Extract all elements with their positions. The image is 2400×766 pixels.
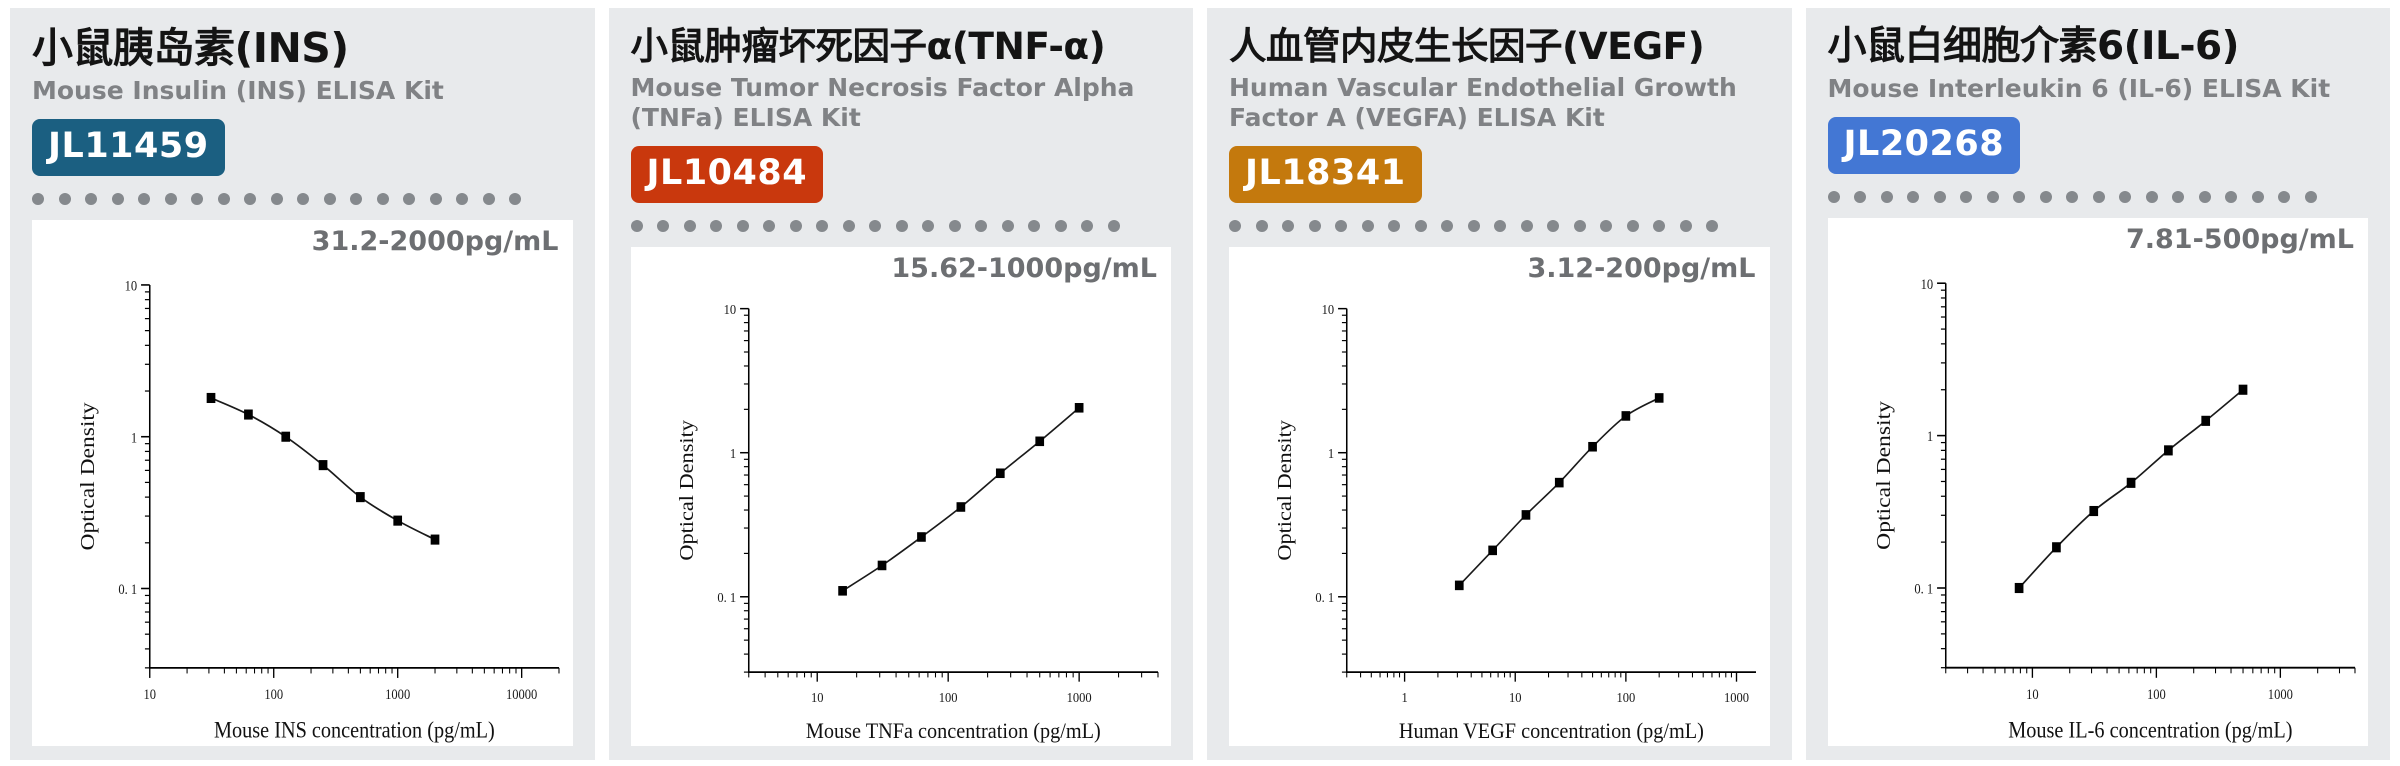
divider-dot xyxy=(1441,220,1453,232)
divider-dot xyxy=(1881,191,1893,203)
dotted-divider xyxy=(1229,211,1770,241)
divider-dot xyxy=(1256,220,1268,232)
svg-text:1: 1 xyxy=(1328,445,1334,461)
svg-text:0. 1: 0. 1 xyxy=(1914,580,1933,596)
dotted-divider xyxy=(1828,182,2369,212)
divider-dot xyxy=(1653,220,1665,232)
divider-dot xyxy=(112,193,124,205)
product-panel-tnfa[interactable]: 小鼠肿瘤坏死因子α(TNF-α) Mouse Tumor Necrosis Fa… xyxy=(609,8,1194,760)
divider-dot xyxy=(1680,220,1692,232)
divider-dot xyxy=(2172,191,2184,203)
svg-text:Mouse INS concentration (pg/mL: Mouse INS concentration (pg/mL) xyxy=(214,716,495,743)
divider-dot xyxy=(737,220,749,232)
standard-curve-card: 31.2-2000pg/mL 0. 111010100100010000Mous… xyxy=(32,220,573,746)
divider-dot xyxy=(2013,191,2025,203)
divider-dot xyxy=(2066,191,2078,203)
divider-dot xyxy=(32,193,44,205)
divider-dot xyxy=(1934,191,1946,203)
product-title-cn: 小鼠肿瘤坏死因子α(TNF-α) xyxy=(631,26,1172,67)
svg-text:Mouse IL-6 concentration (pg/m: Mouse IL-6 concentration (pg/mL) xyxy=(2008,716,2292,743)
standard-curve-chart: 0. 1110101001000Mouse TNFa concentration… xyxy=(631,247,1172,747)
divider-dot xyxy=(1282,220,1294,232)
divider-dot xyxy=(896,220,908,232)
divider-dot xyxy=(2040,191,2052,203)
divider-dot xyxy=(2146,191,2158,203)
standard-curve-card: 7.81-500pg/mL 0. 1110101001000Mouse IL-6… xyxy=(1828,218,2369,746)
standard-curve-card: 3.12-200pg/mL 0. 11101101001000Human VEG… xyxy=(1229,247,1770,747)
product-title-en: Human Vascular Endothelial Growth Factor… xyxy=(1229,73,1770,134)
divider-dot xyxy=(218,193,230,205)
divider-dot xyxy=(816,220,828,232)
divider-dot xyxy=(509,193,521,205)
dotted-divider xyxy=(32,184,573,214)
divider-dot xyxy=(1002,220,1014,232)
svg-text:1: 1 xyxy=(1926,428,1932,444)
svg-text:10: 10 xyxy=(2026,686,2039,702)
divider-dot xyxy=(2305,191,2317,203)
divider-dot xyxy=(403,193,415,205)
divider-dot xyxy=(1055,220,1067,232)
divider-dot xyxy=(430,193,442,205)
divider-dot xyxy=(456,193,468,205)
divider-dot xyxy=(1854,191,1866,203)
divider-dot xyxy=(297,193,309,205)
svg-text:100: 100 xyxy=(938,689,957,705)
divider-dot xyxy=(1828,191,1840,203)
svg-text:0. 1: 0. 1 xyxy=(118,581,137,597)
divider-dot xyxy=(271,193,283,205)
divider-dot xyxy=(1362,220,1374,232)
sku-badge[interactable]: JL11459 xyxy=(32,119,225,176)
divider-dot xyxy=(1335,220,1347,232)
svg-text:Optical Density: Optical Density xyxy=(1273,419,1296,560)
divider-dot xyxy=(377,193,389,205)
divider-dot xyxy=(85,193,97,205)
svg-text:Optical Density: Optical Density xyxy=(674,419,697,560)
divider-dot xyxy=(684,220,696,232)
svg-text:Optical Density: Optical Density xyxy=(1871,401,1894,550)
svg-text:10: 10 xyxy=(143,686,156,702)
divider-dot xyxy=(975,220,987,232)
divider-dot xyxy=(1388,220,1400,232)
divider-dot xyxy=(2278,191,2290,203)
svg-text:1000: 1000 xyxy=(1724,689,1749,705)
svg-text:0. 1: 0. 1 xyxy=(1315,589,1334,605)
divider-dot xyxy=(138,193,150,205)
divider-dot xyxy=(1574,220,1586,232)
divider-dot xyxy=(1600,220,1612,232)
divider-dot xyxy=(631,220,643,232)
divider-dot xyxy=(1028,220,1040,232)
divider-dot xyxy=(1547,220,1559,232)
svg-text:10: 10 xyxy=(125,277,138,293)
product-title-en: Mouse Insulin (INS) ELISA Kit xyxy=(32,76,573,107)
divider-dot xyxy=(2119,191,2131,203)
svg-text:100: 100 xyxy=(1616,689,1635,705)
svg-text:100: 100 xyxy=(264,686,283,702)
divider-dot xyxy=(1960,191,1972,203)
svg-text:1: 1 xyxy=(131,429,137,445)
product-title-cn: 小鼠白细胞介素6(IL-6) xyxy=(1828,26,2369,68)
divider-dot xyxy=(1468,220,1480,232)
divider-dot xyxy=(1987,191,1999,203)
product-panel-ins[interactable]: 小鼠胰岛素(INS) Mouse Insulin (INS) ELISA Kit… xyxy=(10,8,595,760)
dotted-divider xyxy=(631,211,1172,241)
divider-dot xyxy=(59,193,71,205)
divider-dot xyxy=(843,220,855,232)
svg-text:10: 10 xyxy=(1509,689,1522,705)
product-title-cn: 人血管内皮生长因子(VEGF) xyxy=(1229,26,1770,67)
divider-dot xyxy=(763,220,775,232)
divider-dot xyxy=(922,220,934,232)
divider-dot xyxy=(165,193,177,205)
divider-dot xyxy=(1706,220,1718,232)
divider-dot xyxy=(657,220,669,232)
divider-dot xyxy=(2199,191,2211,203)
divider-dot xyxy=(710,220,722,232)
divider-dot xyxy=(869,220,881,232)
divider-dot xyxy=(350,193,362,205)
divider-dot xyxy=(1415,220,1427,232)
svg-text:1: 1 xyxy=(729,445,735,461)
sku-badge[interactable]: JL20268 xyxy=(1828,117,2021,174)
divider-dot xyxy=(1229,220,1241,232)
divider-dot xyxy=(191,193,203,205)
standard-curve-chart: 0. 11101101001000Human VEGF concentratio… xyxy=(1229,247,1770,747)
svg-text:10000: 10000 xyxy=(506,686,538,702)
svg-text:100: 100 xyxy=(2146,686,2165,702)
svg-text:Optical Density: Optical Density xyxy=(75,402,98,550)
svg-text:1000: 1000 xyxy=(1066,689,1091,705)
divider-dot xyxy=(1521,220,1533,232)
divider-dot xyxy=(949,220,961,232)
standard-curve-chart: 0. 111010100100010000Mouse INS concentra… xyxy=(32,220,573,746)
svg-text:Mouse TNFa concentration (pg/m: Mouse TNFa concentration (pg/mL) xyxy=(805,718,1100,743)
divider-dot xyxy=(1494,220,1506,232)
divider-dot xyxy=(1907,191,1919,203)
svg-text:10: 10 xyxy=(1322,301,1335,317)
svg-text:1: 1 xyxy=(1401,689,1407,705)
product-panel-il6[interactable]: 小鼠白细胞介素6(IL-6) Mouse Interleukin 6 (IL-6… xyxy=(1806,8,2391,760)
standard-curve-chart: 0. 1110101001000Mouse IL-6 concentration… xyxy=(1828,218,2369,746)
standard-curve-card: 15.62-1000pg/mL 0. 1110101001000Mouse TN… xyxy=(631,247,1172,747)
divider-dot xyxy=(1309,220,1321,232)
divider-dot xyxy=(1627,220,1639,232)
product-title-en: Mouse Interleukin 6 (IL-6) ELISA Kit xyxy=(1828,74,2369,105)
product-card-row: 小鼠胰岛素(INS) Mouse Insulin (INS) ELISA Kit… xyxy=(0,0,2400,766)
svg-text:10: 10 xyxy=(810,689,823,705)
svg-text:0. 1: 0. 1 xyxy=(717,589,736,605)
sku-badge[interactable]: JL18341 xyxy=(1229,146,1422,203)
svg-text:Human VEGF concentration (pg/m: Human VEGF concentration (pg/mL) xyxy=(1399,718,1704,743)
divider-dot xyxy=(483,193,495,205)
divider-dot xyxy=(2225,191,2237,203)
svg-text:1000: 1000 xyxy=(2267,686,2292,702)
divider-dot xyxy=(2093,191,2105,203)
product-title-cn: 小鼠胰岛素(INS) xyxy=(32,26,573,70)
svg-text:1000: 1000 xyxy=(385,686,410,702)
divider-dot xyxy=(324,193,336,205)
divider-dot xyxy=(1108,220,1120,232)
sku-badge[interactable]: JL10484 xyxy=(631,146,824,203)
divider-dot xyxy=(1081,220,1093,232)
svg-text:10: 10 xyxy=(1920,276,1933,292)
divider-dot xyxy=(2252,191,2264,203)
divider-dot xyxy=(244,193,256,205)
svg-text:10: 10 xyxy=(723,301,736,317)
divider-dot xyxy=(790,220,802,232)
product-panel-vegf[interactable]: 人血管内皮生长因子(VEGF) Human Vascular Endotheli… xyxy=(1207,8,1792,760)
product-title-en: Mouse Tumor Necrosis Factor Alpha (TNFa)… xyxy=(631,73,1172,134)
